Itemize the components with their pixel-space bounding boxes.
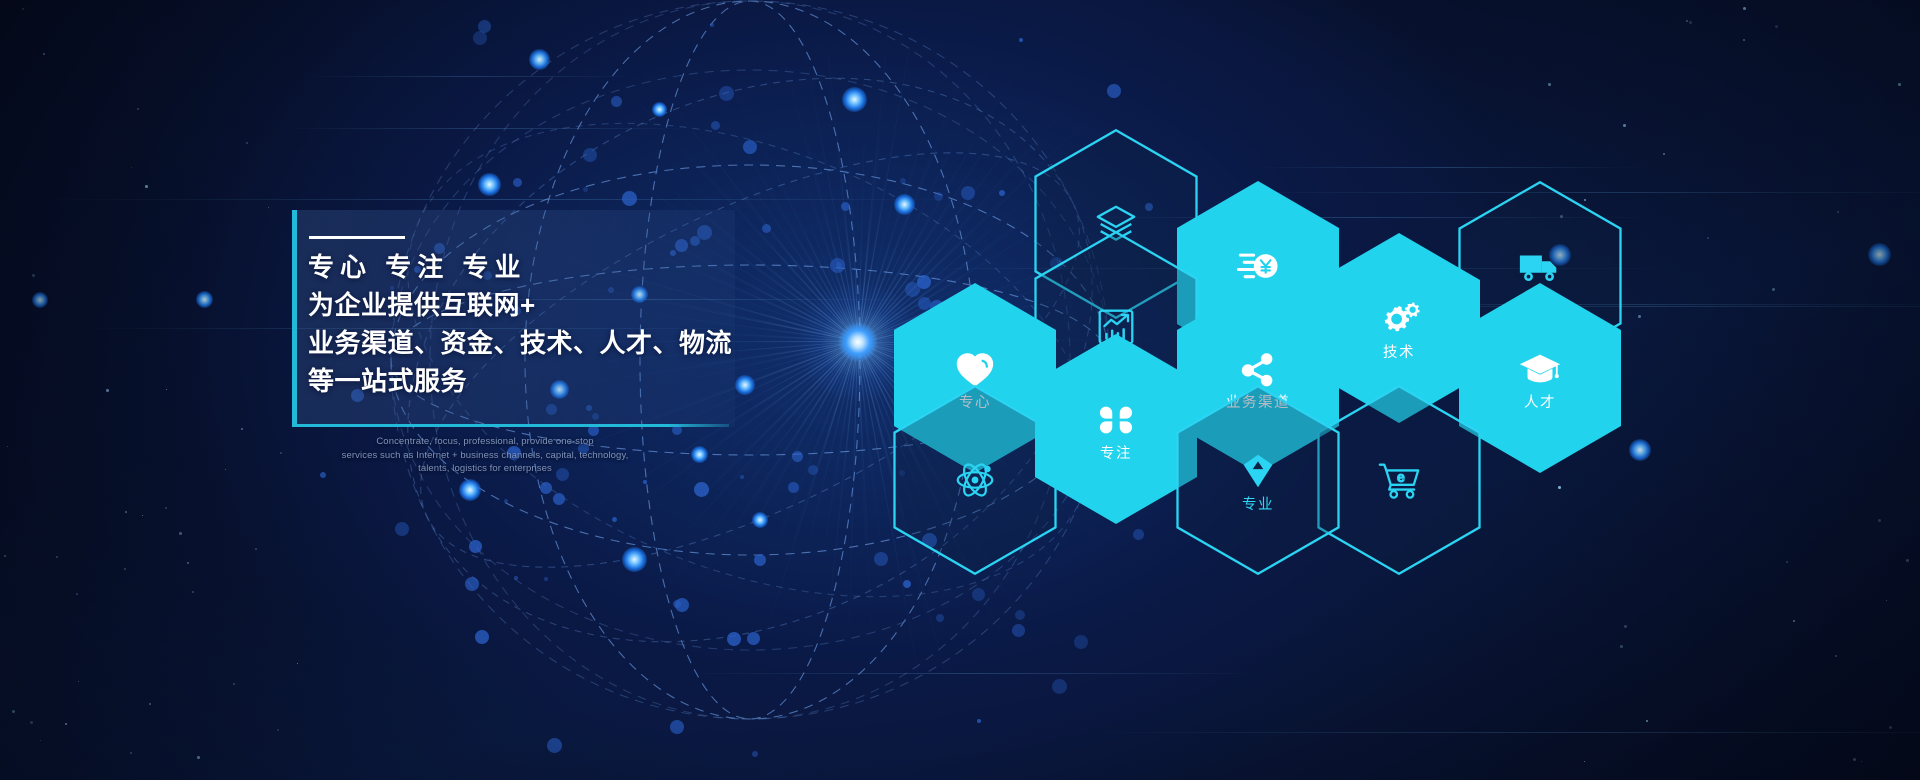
hexagon-zhuanye[interactable]: 专业 (1175, 384, 1341, 576)
svg-text:e: e (1397, 470, 1405, 486)
diamond-icon (1235, 448, 1281, 494)
hexagon-label: 专业 (1242, 498, 1274, 513)
gears-icon (1376, 296, 1422, 342)
ecommerce-cart-icon: e (1376, 457, 1422, 503)
hexagon-label: 人才 (1524, 396, 1556, 411)
hexagon-label: 技术 (1383, 346, 1415, 361)
atom-icon (952, 457, 998, 503)
hexagon-label: 专注 (1100, 447, 1132, 462)
clover-icon (1093, 397, 1139, 443)
hexagon-grid: 资金 物流 (0, 0, 1920, 780)
banner-stage: 专心 专注 专业 为企业提供互联网+ 业务渠道、资金、技术、人才、物流 等一站式… (0, 0, 1920, 780)
graduation-cap-icon (1517, 346, 1563, 392)
